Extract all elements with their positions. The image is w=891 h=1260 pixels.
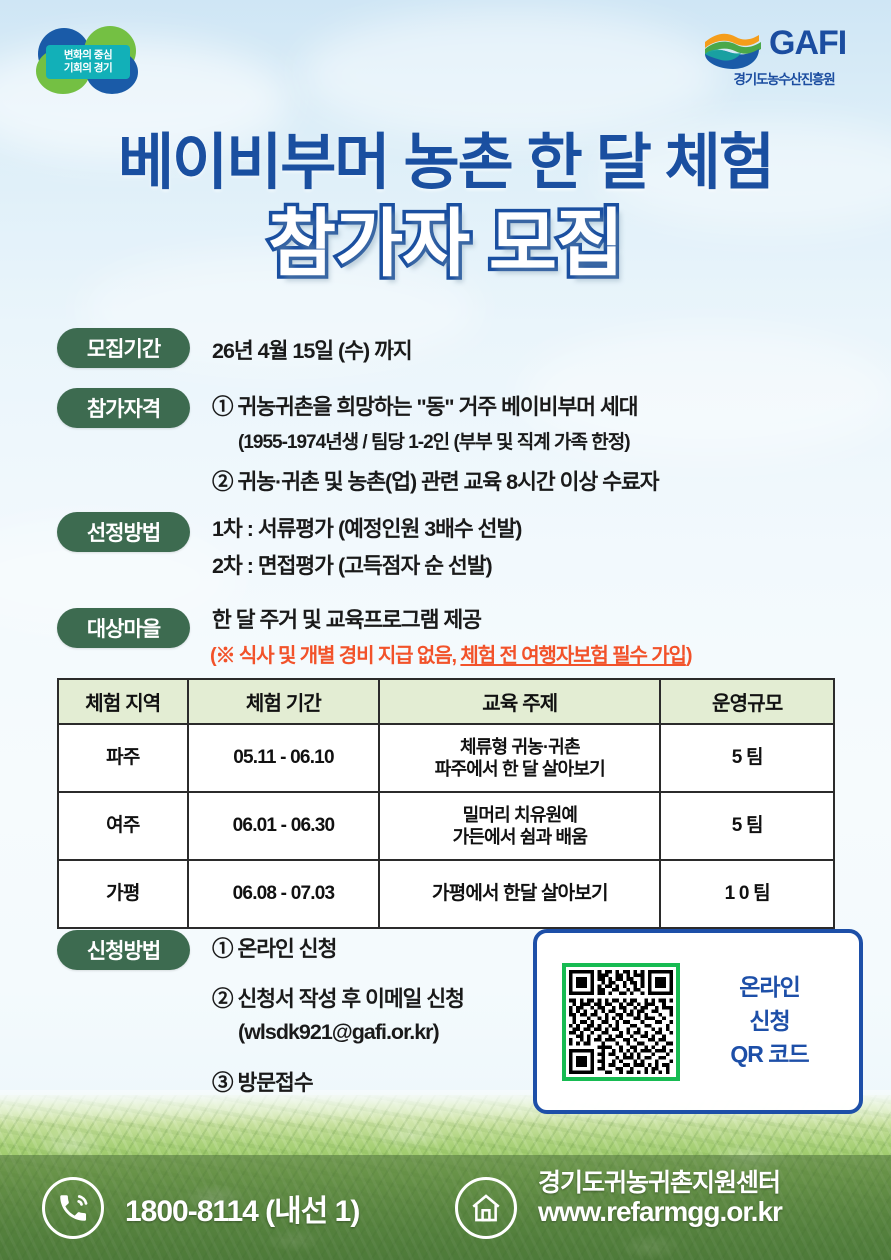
application-method-item-2: ② 신청서 작성 후 이메일 신청 — [212, 982, 464, 1013]
gyeonggi-slogan-line1: 변화의 중심 — [64, 49, 112, 62]
cell-region: 파주 — [58, 724, 188, 792]
gyeonggi-slogan-line2: 기회의 경기 — [64, 62, 112, 75]
cell-period: 05.11 - 06.10 — [188, 724, 380, 792]
poster-root: 변화의 중심 기회의 경기 GAFI 경기도농수산진흥원 베이비부머 농촌 한 … — [0, 0, 891, 1260]
qr-label-line3: QR 코드 — [680, 1038, 859, 1071]
table-row: 파주 05.11 - 06.10 체류형 귀농·귀촌 파주에서 한 달 살아보기… — [58, 724, 834, 792]
table-header-scale: 운영규모 — [660, 679, 834, 724]
footer-website-url[interactable]: www.refarmgg.or.kr — [538, 1196, 782, 1228]
cell-topic-line2: 파주에서 한 달 살아보기 — [380, 758, 659, 781]
cell-period: 06.08 - 07.03 — [188, 860, 380, 928]
application-email[interactable]: (wlsdk921@gafi.or.kr) — [238, 1020, 439, 1045]
cell-topic-line2: 가든에서 쉼과 배움 — [380, 826, 659, 849]
table-header-period: 체험 기간 — [188, 679, 380, 724]
eligibility-item-1-detail: (1955-1974년생 / 팀당 1-2인 (부부 및 직계 가족 한정) — [238, 427, 630, 454]
eligibility-item-1: ① 귀농귀촌을 희망하는 "동" 거주 베이비부머 세대 — [212, 390, 638, 421]
table-row: 가평 06.08 - 07.03 가평에서 한달 살아보기 1 0 팀 — [58, 860, 834, 928]
value-recruitment-period: 26년 4월 15일 (수) 까지 — [212, 334, 412, 365]
cell-topic-line1: 체류형 귀농·귀촌 — [380, 736, 659, 759]
table-header-topic: 교육 주제 — [379, 679, 660, 724]
selection-method-stage-2: 2차 : 면접평가 (고득점자 순 선발) — [212, 549, 492, 580]
cell-region: 가평 — [58, 860, 188, 928]
qr-code-image[interactable] — [562, 963, 680, 1081]
label-recruitment-period: 모집기간 — [57, 328, 190, 368]
gyeonggi-logo-text: 변화의 중심 기회의 경기 — [46, 45, 130, 79]
table-row: 여주 06.01 - 06.30 밀머리 치유원예 가든에서 쉼과 배움 5 팀 — [58, 792, 834, 860]
cell-period: 06.01 - 06.30 — [188, 792, 380, 860]
table-header-region: 체험 지역 — [58, 679, 188, 724]
cell-topic-line1: 밀머리 치유원예 — [380, 804, 659, 827]
label-selection-method: 선정방법 — [57, 512, 190, 552]
cell-scale: 5 팀 — [660, 724, 834, 792]
gyeonggi-province-logo: 변화의 중심 기회의 경기 — [36, 24, 142, 96]
application-method-item-3: ③ 방문접수 — [212, 1066, 313, 1097]
gafi-logo: GAFI 경기도농수산진흥원 — [697, 26, 869, 90]
qr-label-line2: 신청 — [680, 1005, 859, 1038]
warning-suffix: ) — [686, 645, 692, 667]
selection-method-stage-1: 1차 : 서류평가 (예정인원 3배수 선발) — [212, 512, 521, 543]
home-icon — [455, 1177, 517, 1239]
warning-underlined: 체험 전 여행자보험 필수 가입 — [460, 645, 685, 667]
cell-scale: 1 0 팀 — [660, 860, 834, 928]
cell-region: 여주 — [58, 792, 188, 860]
table-header-row: 체험 지역 체험 기간 교육 주제 운영규모 — [58, 679, 834, 724]
target-village-description: 한 달 주거 및 교육프로그램 제공 — [212, 603, 481, 634]
label-eligibility: 참가자격 — [57, 388, 190, 428]
target-village-warning: (※ 식사 및 개별 경비 지급 없음, 체험 전 여행자보험 필수 가입) — [210, 639, 691, 668]
cell-topic: 가평에서 한달 살아보기 — [379, 860, 660, 928]
gafi-wave-mark-icon — [703, 28, 765, 70]
poster-title-line2: 참가자 모집 — [0, 184, 891, 291]
cell-topic: 체류형 귀농·귀촌 파주에서 한 달 살아보기 — [379, 724, 660, 792]
footer-center-name: 경기도귀농귀촌지원센터 — [538, 1163, 780, 1199]
qr-code-box[interactable]: 온라인 신청 QR 코드 — [533, 929, 863, 1114]
label-target-village: 대상마을 — [57, 608, 190, 648]
cell-topic: 밀머리 치유원예 가든에서 쉼과 배움 — [379, 792, 660, 860]
experience-program-table: 체험 지역 체험 기간 교육 주제 운영규모 파주 05.11 - 06.10 … — [57, 678, 835, 929]
qr-label-line1: 온라인 — [680, 971, 859, 1004]
gafi-wordmark: GAFI — [769, 24, 846, 63]
eligibility-item-2: ② 귀농·귀촌 및 농촌(업) 관련 교육 8시간 이상 수료자 — [212, 465, 659, 496]
footer-phone-number: 1800-8114 (내선 1) — [125, 1186, 359, 1230]
warning-prefix: (※ 식사 및 개별 경비 지급 없음, — [210, 645, 460, 667]
application-method-item-1: ① 온라인 신청 — [212, 932, 336, 963]
qr-code-label: 온라인 신청 QR 코드 — [680, 971, 859, 1071]
label-application-method: 신청방법 — [57, 930, 190, 970]
gafi-subtitle: 경기도농수산진흥원 — [701, 68, 867, 88]
phone-icon — [42, 1177, 104, 1239]
cell-scale: 5 팀 — [660, 792, 834, 860]
